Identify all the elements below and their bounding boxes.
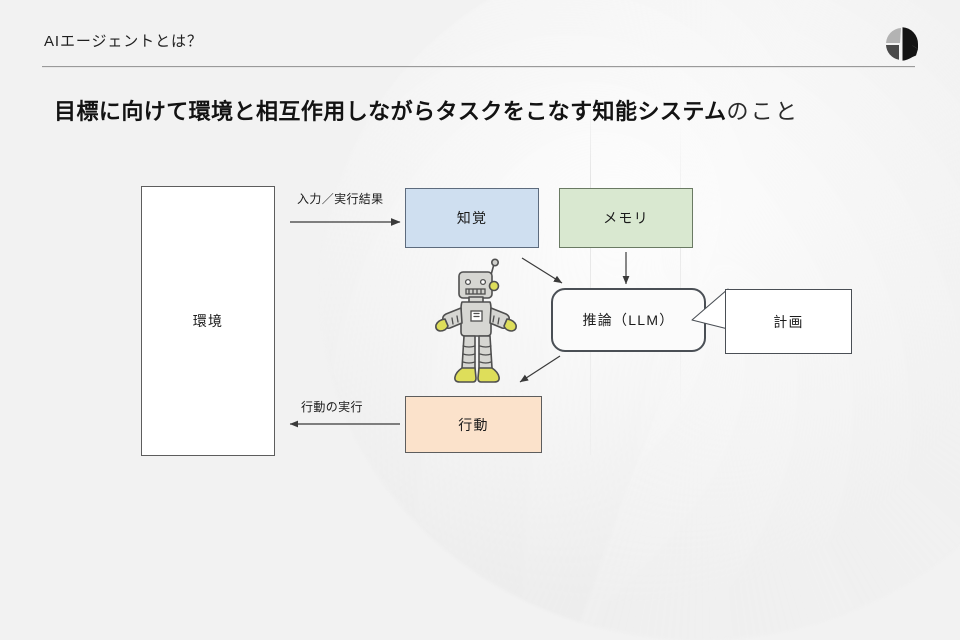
diagram-node-memory[interactable]: メモリ <box>559 188 693 248</box>
agent-loop-diagram: 環境 知覚 メモリ 推論（LLM） 計画 行動 入力／実行結果 行動の実行 <box>0 0 960 540</box>
node-label-plan: 計画 <box>773 312 804 332</box>
diagram-node-action[interactable]: 行動 <box>405 396 542 453</box>
diagram-node-environment[interactable]: 環境 <box>141 186 275 456</box>
node-label-memory: メモリ <box>603 208 649 228</box>
node-label-reasoning: 推論（LLM） <box>582 310 674 330</box>
diagram-node-plan[interactable]: 計画 <box>725 289 852 354</box>
arrow-label-action: 行動の実行 <box>301 398 363 415</box>
node-label-environment: 環境 <box>193 311 224 331</box>
arrow-label-input: 入力／実行結果 <box>297 190 384 207</box>
node-label-action: 行動 <box>458 415 489 435</box>
node-label-perception: 知覚 <box>457 208 488 228</box>
diagram-node-perception[interactable]: 知覚 <box>405 188 539 248</box>
robot-mascot-illustration <box>428 256 528 386</box>
diagram-node-reasoning[interactable]: 推論（LLM） <box>551 288 706 352</box>
